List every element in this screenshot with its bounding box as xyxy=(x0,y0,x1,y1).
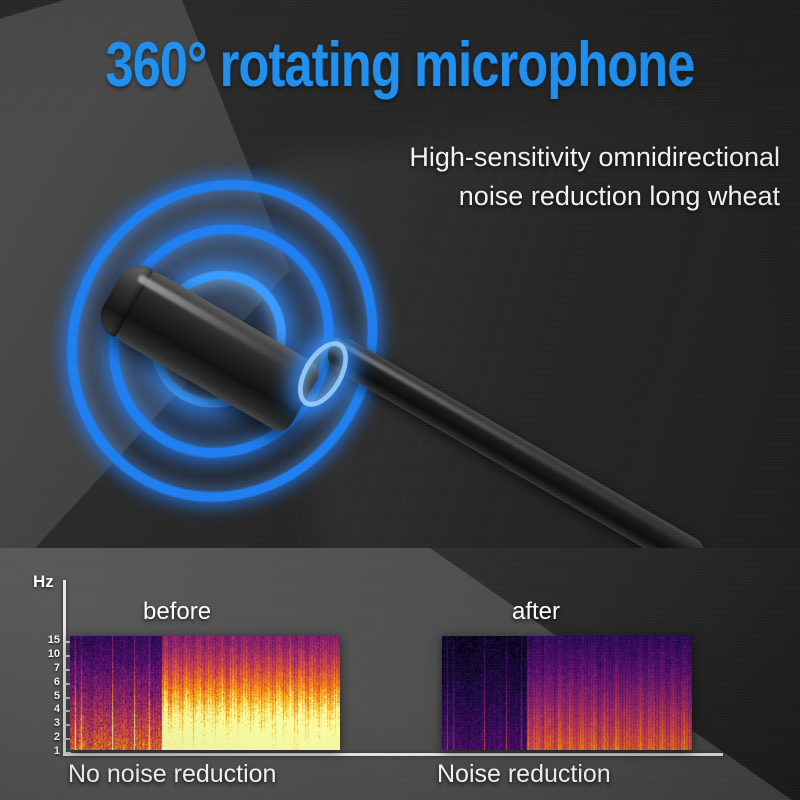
product-marketing-image: 360° rotating microphone High-sensitivit… xyxy=(0,0,800,800)
y-axis-tick-label: 1 xyxy=(36,745,60,757)
page-title: 360° rotating microphone xyxy=(80,34,720,97)
subtitle: High-sensitivity omnidirectional noise r… xyxy=(220,138,780,216)
caption-noise-reduction: Noise reduction xyxy=(437,760,611,789)
y-axis-tick-label: 7 xyxy=(36,662,60,674)
y-axis-tick-label: 4 xyxy=(36,703,60,715)
y-axis-tick-label: 5 xyxy=(36,690,60,702)
spectrogram-before xyxy=(70,636,340,750)
y-axis-tick-label: 10 xyxy=(36,648,60,660)
y-axis-tick-label: 3 xyxy=(36,717,60,729)
panel-title-after: after xyxy=(512,598,560,626)
caption-no-noise-reduction: No noise reduction xyxy=(68,760,276,789)
spectrogram-after xyxy=(442,636,692,750)
y-axis-tick-mark xyxy=(63,752,71,754)
subtitle-line-1: High-sensitivity omnidirectional xyxy=(220,138,780,177)
y-axis-tick-label: 2 xyxy=(36,731,60,743)
y-axis-line xyxy=(63,580,66,755)
panel-title-before: before xyxy=(143,598,211,626)
y-axis-tick-label: 15 xyxy=(36,634,60,646)
y-axis-tick-label: 6 xyxy=(36,676,60,688)
subtitle-line-2: noise reduction long wheat xyxy=(220,177,780,216)
x-axis-line xyxy=(63,753,723,756)
y-axis-label: Hz xyxy=(33,572,54,592)
